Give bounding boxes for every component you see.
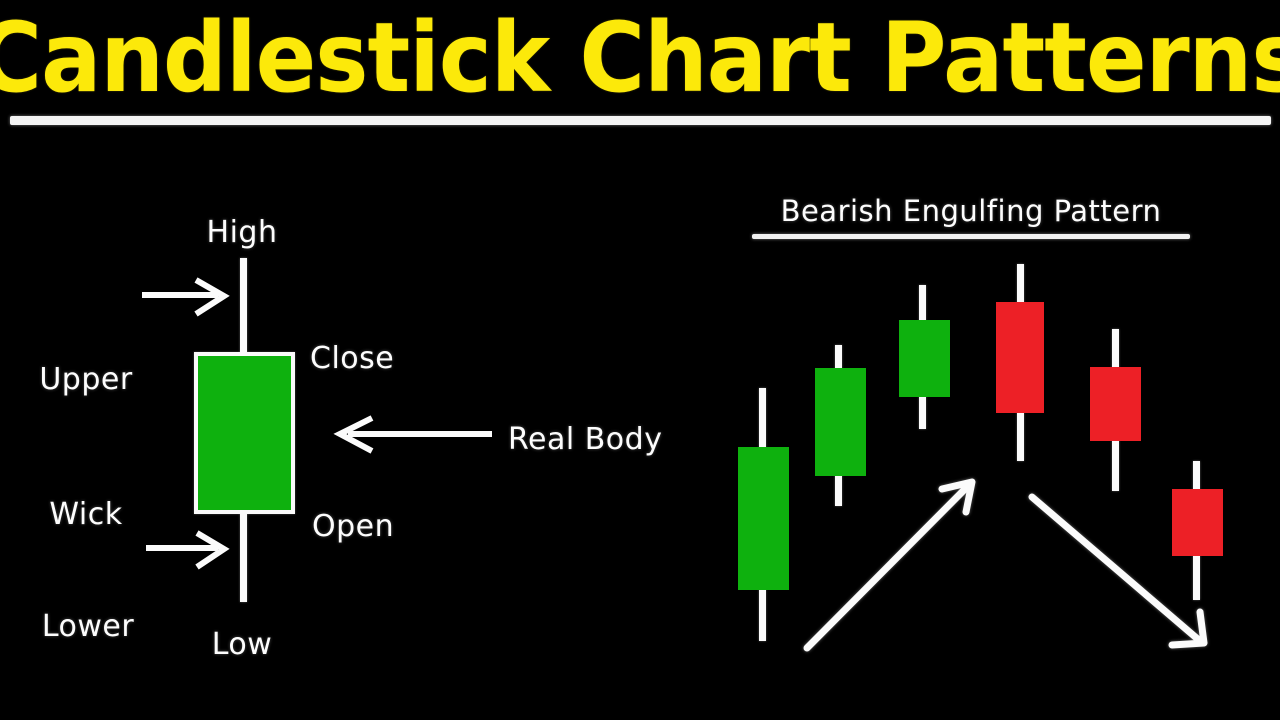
trend-arrows-layer <box>0 0 1280 720</box>
uptrend-arrow <box>807 482 972 648</box>
downtrend-arrow <box>1032 497 1204 645</box>
slide-canvas: Candlestick Chart Patterns High Low Clos… <box>0 0 1280 720</box>
